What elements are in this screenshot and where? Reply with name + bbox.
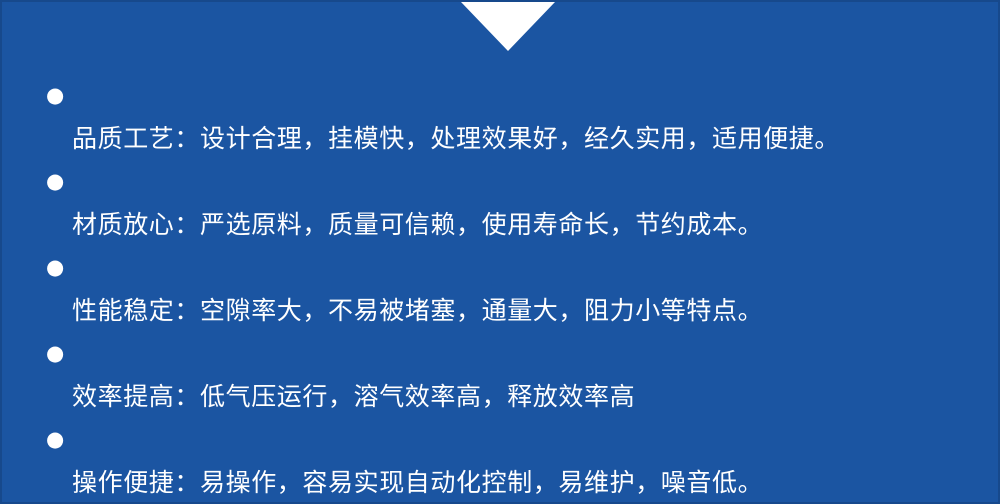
feature-text: 效率提高：低气压运行，溶气效率高，释放效率高 xyxy=(72,332,978,418)
bullet-icon: ● xyxy=(46,332,72,375)
feature-text: 性能稳定：空隙率大，不易被堵塞，通量大，阻力小等特点。 xyxy=(72,246,978,332)
list-item: ● 性能稳定：空隙率大，不易被堵塞，通量大，阻力小等特点。 xyxy=(46,246,978,332)
triangle-down-icon xyxy=(461,2,555,51)
feature-list: ● 品质工艺：设计合理，挂模快，处理效果好，经久实用，适用便捷。 ● 材质放心：… xyxy=(46,74,978,504)
bullet-icon: ● xyxy=(46,74,72,117)
feature-line-1: 效率提高：低气压运行，溶气效率高，释放效率高 xyxy=(72,382,635,411)
bullet-icon: ● xyxy=(46,246,72,289)
feature-poster: ● 品质工艺：设计合理，挂模快，处理效果好，经久实用，适用便捷。 ● 材质放心：… xyxy=(0,0,1000,504)
feature-line-1: 操作便捷：易操作，容易实现自动化控制，易维护，噪音低。 xyxy=(72,468,763,497)
feature-text: 材质放心：严选原料，质量可信赖，使用寿命长，节约成本。 xyxy=(72,160,978,246)
feature-line-1: 性能稳定：空隙率大，不易被堵塞，通量大，阻力小等特点。 xyxy=(72,296,763,325)
list-item: ● 品质工艺：设计合理，挂模快，处理效果好，经久实用，适用便捷。 xyxy=(46,74,978,160)
bullet-icon: ● xyxy=(46,160,72,203)
feature-line-1: 品质工艺：设计合理，挂模快，处理效果好，经久实用，适用便捷。 xyxy=(72,124,840,153)
list-item: ● 效率提高：低气压运行，溶气效率高，释放效率高 xyxy=(46,332,978,418)
list-item: ● 操作便捷：易操作，容易实现自动化控制，易维护，噪音低。 xyxy=(46,418,978,504)
list-item: ● 材质放心：严选原料，质量可信赖，使用寿命长，节约成本。 xyxy=(46,160,978,246)
feature-text: 操作便捷：易操作，容易实现自动化控制，易维护，噪音低。 xyxy=(72,418,978,504)
bullet-icon: ● xyxy=(46,418,72,461)
feature-line-1: 材质放心：严选原料，质量可信赖，使用寿命长，节约成本。 xyxy=(72,210,763,239)
feature-text: 品质工艺：设计合理，挂模快，处理效果好，经久实用，适用便捷。 xyxy=(72,74,978,160)
